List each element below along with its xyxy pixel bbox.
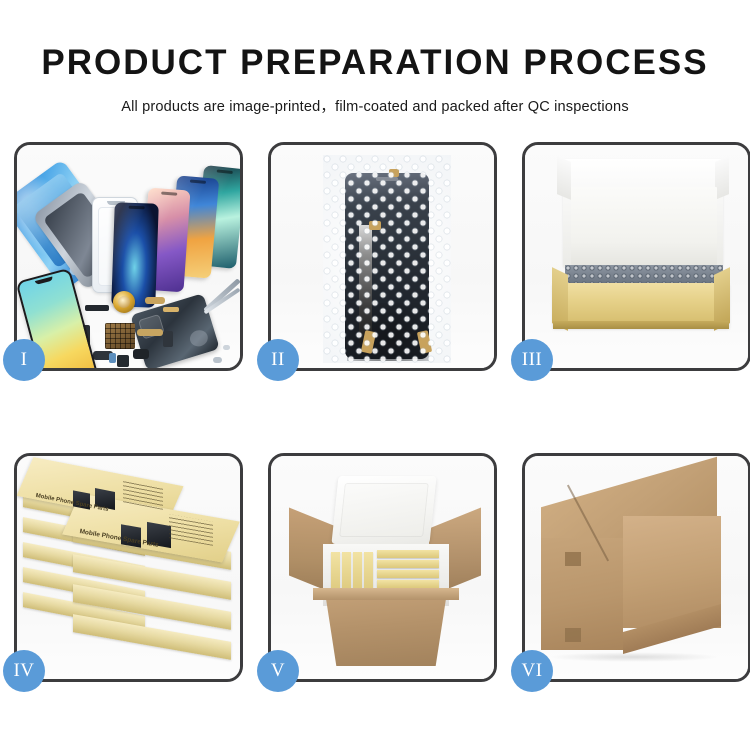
- step-3-image: [525, 145, 748, 368]
- step-4-image: Mobile Phone Spare Parts Mobile Phone Sp…: [17, 456, 240, 679]
- step-badge-3: III: [511, 339, 553, 381]
- white-foam-sheet-icon: [571, 187, 717, 265]
- component-part-icon: [85, 305, 109, 311]
- step-badge-1: I: [3, 339, 45, 381]
- step-panel-5-carton-with-foam: V: [268, 453, 497, 682]
- step-5-image: [271, 456, 494, 679]
- yellow-box-edge: [553, 321, 729, 329]
- gold-coil-icon: [113, 291, 135, 313]
- stacked-boxes-illustration: Mobile Phone Spare Parts Mobile Phone Sp…: [17, 456, 240, 679]
- carton-rim: [313, 588, 459, 600]
- step-panel-1-phone-parts: I: [14, 142, 243, 371]
- component-part-icon: [163, 331, 173, 347]
- phone-notch-icon: [161, 192, 177, 196]
- step-panel-6-sealed-carton: VI: [522, 453, 750, 682]
- step-panel-2-bubble-wrapped-screen: II: [268, 142, 497, 371]
- sealed-carton-illustration: [525, 456, 748, 679]
- step-badge-4: IV: [3, 650, 45, 692]
- phone-notch-icon: [217, 169, 233, 174]
- open-inner-box-illustration: [525, 145, 748, 368]
- step-badge-5: V: [257, 650, 299, 692]
- foam-lid-icon: [331, 476, 436, 544]
- phone-parts-illustration: [17, 145, 240, 368]
- step-panel-3-open-inner-box: III: [522, 142, 750, 371]
- carton-shadow: [549, 652, 719, 662]
- phone-notch-icon: [129, 206, 145, 210]
- component-part-icon: [117, 355, 129, 367]
- step-panel-4-stacked-boxes: Mobile Phone Spare Parts Mobile Phone Sp…: [14, 453, 243, 682]
- component-part-icon: [109, 353, 116, 363]
- carton-left-face-icon: [541, 538, 623, 650]
- step-1-image: [17, 145, 240, 368]
- process-steps-grid: I II: [14, 142, 736, 682]
- step-6-image: [525, 456, 748, 679]
- component-part-icon: [163, 307, 179, 312]
- component-part-icon: [133, 349, 149, 359]
- product-preparation-process-page: PRODUCT PREPARATION PROCESS All products…: [0, 0, 750, 750]
- carton-tape-icon: [565, 552, 581, 566]
- page-subtitle: All products are image-printed，film-coat…: [0, 95, 750, 116]
- carton-front-icon: [317, 594, 455, 666]
- component-part-icon: [145, 297, 165, 304]
- phone-notch-icon: [190, 179, 206, 183]
- yellow-box-icon: [377, 570, 439, 578]
- yellow-box-icon: [377, 580, 439, 588]
- yellow-box-icon: [377, 550, 439, 558]
- flex-cable-icon: [137, 329, 163, 336]
- bubble-wrap-bag-icon: [323, 155, 451, 363]
- step-2-image: [271, 145, 494, 368]
- yellow-box-icon: [377, 560, 439, 568]
- bubble-wrap-texture: [323, 155, 451, 363]
- header: PRODUCT PREPARATION PROCESS All products…: [0, 0, 750, 116]
- step-badge-2: II: [257, 339, 299, 381]
- chip-array-icon: [105, 323, 135, 349]
- step-badge-6: VI: [511, 650, 553, 692]
- carton-with-foam-illustration: [271, 456, 494, 679]
- screw-icon: [213, 357, 222, 363]
- carton-tape-icon: [565, 628, 581, 642]
- page-title: PRODUCT PREPARATION PROCESS: [0, 45, 750, 80]
- screw-icon: [223, 345, 230, 350]
